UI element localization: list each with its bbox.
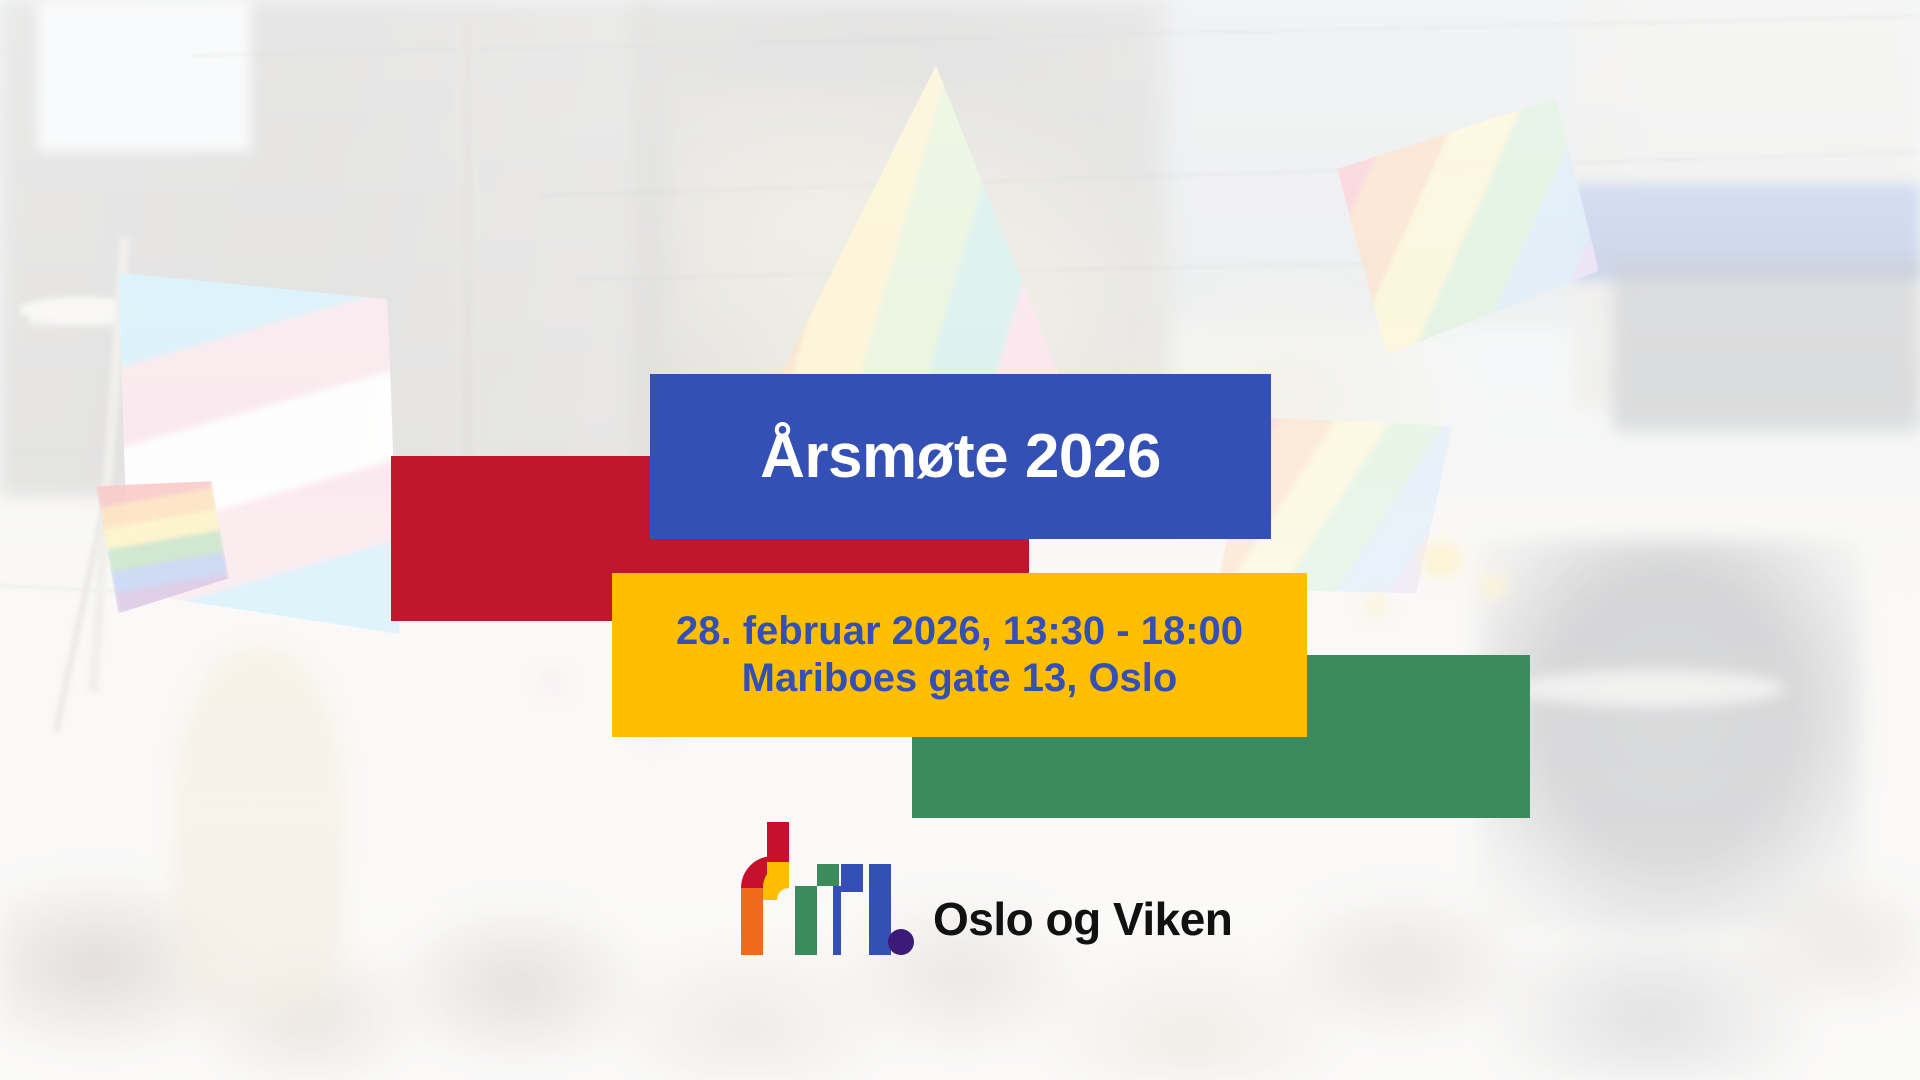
page-title: Årsmøte 2026: [760, 426, 1161, 488]
organization-name: Oslo og Viken: [933, 896, 1232, 955]
event-address: Mariboes gate 13, Oslo: [742, 655, 1178, 702]
title-banner: Årsmøte 2026: [650, 374, 1271, 539]
event-details-banner: 28. februar 2026, 13:30 - 18:00 Mariboes…: [612, 573, 1307, 737]
event-datetime: 28. februar 2026, 13:30 - 18:00: [676, 608, 1243, 655]
event-poster: Årsmøte 2026 28. februar 2026, 13:30 - 1…: [0, 0, 1920, 1080]
fri-logo: Oslo og Viken: [735, 822, 1232, 955]
fri-logo-mark-icon: [735, 822, 915, 955]
